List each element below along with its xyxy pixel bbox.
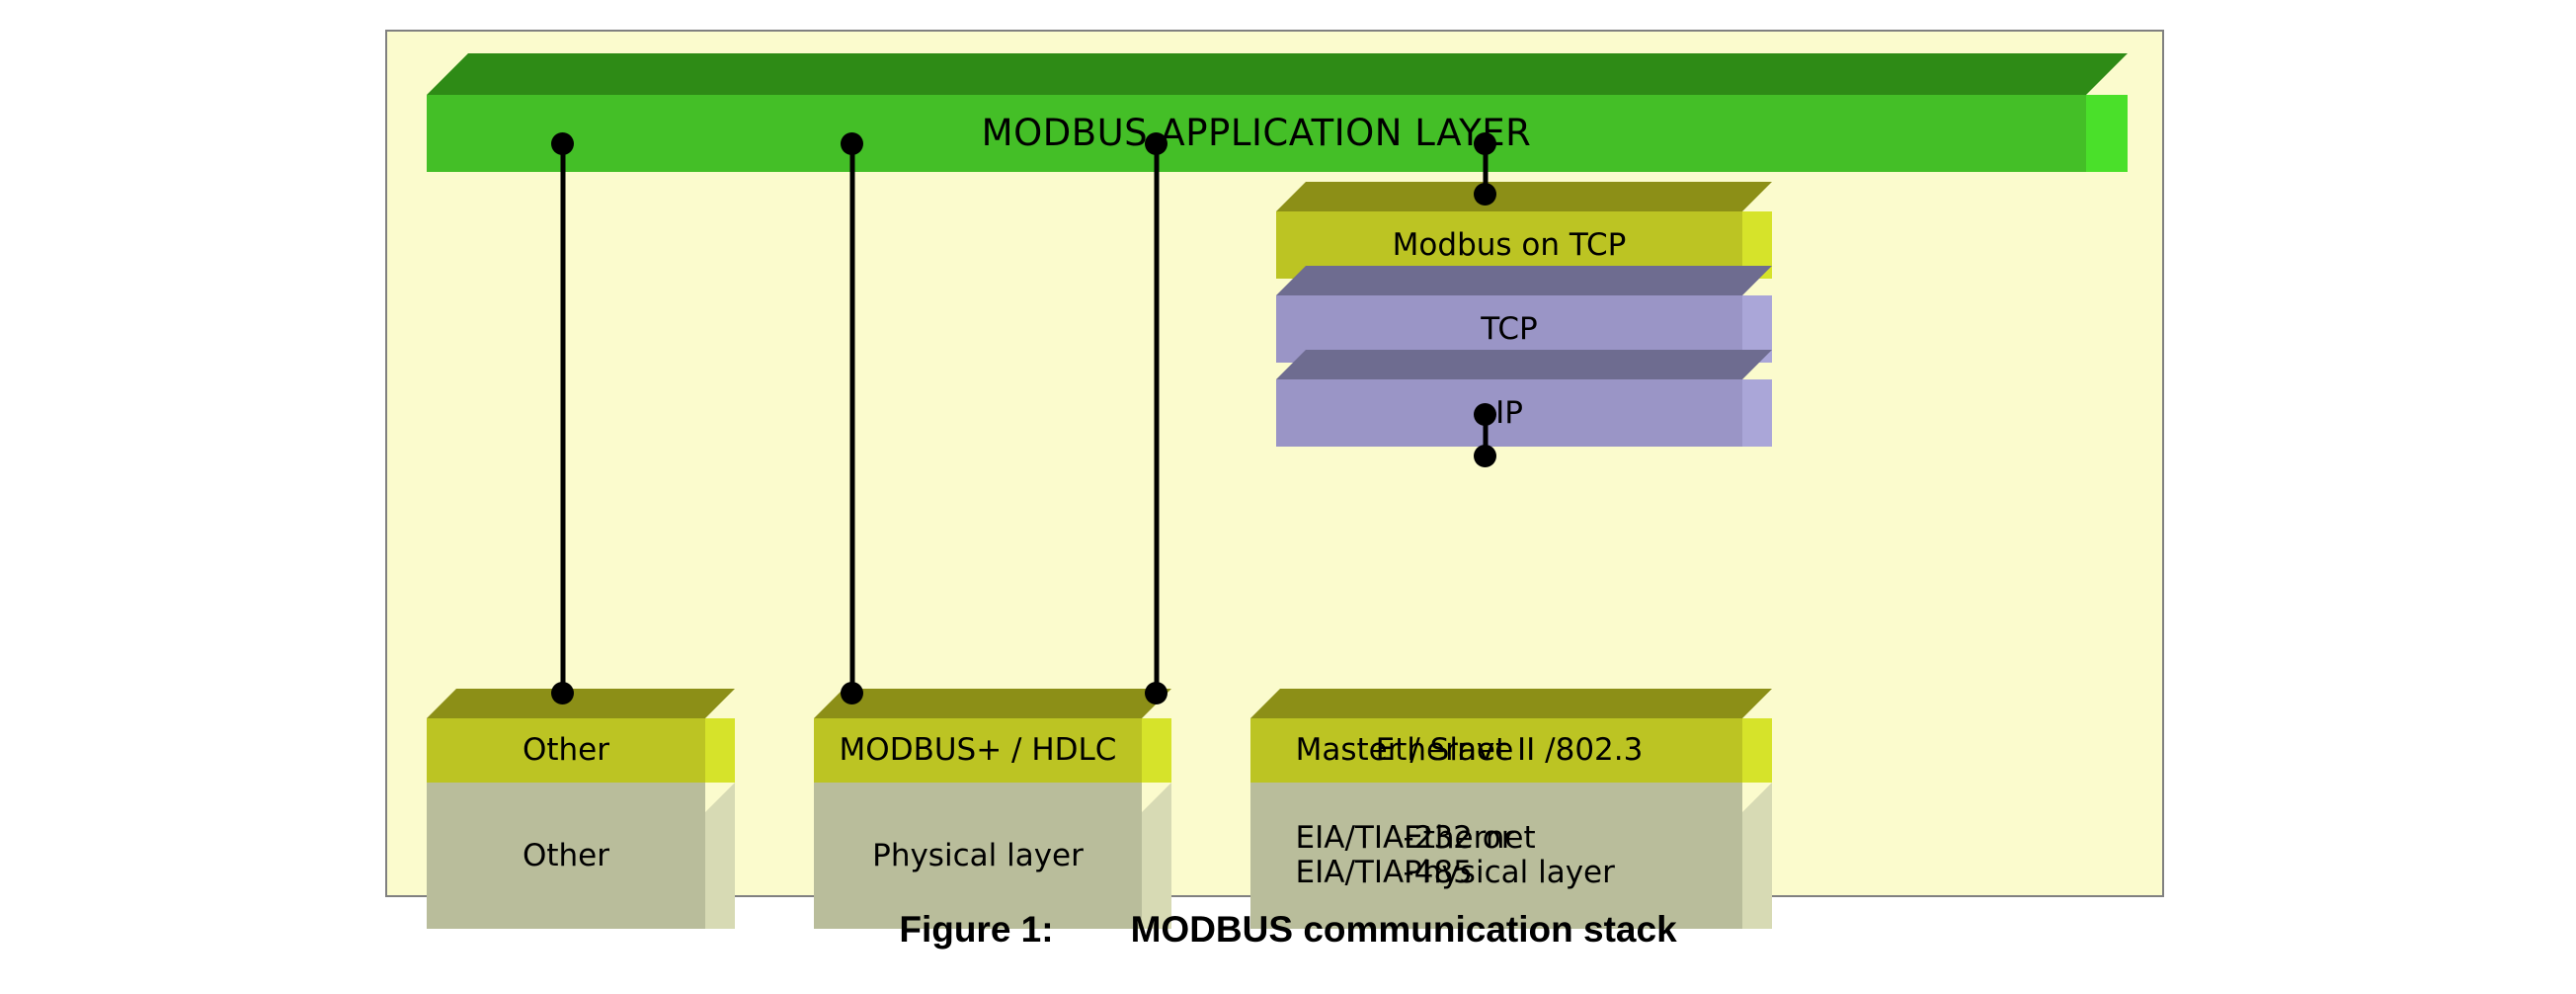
ethernet-stack-upper-side-face [1742, 718, 1772, 783]
ip-side-face [1742, 379, 1772, 447]
modbus-plus-stack-upper-side-face [1142, 718, 1171, 783]
connector-app-layer-to-modbus-plus [841, 143, 863, 694]
modbus-application-layer-block: MODBUS APPLICATION LAYER [427, 53, 2128, 172]
modbus-plus-stack-lower-side-face [1142, 783, 1171, 929]
connector-dot-top [551, 132, 574, 155]
connector-dot-bottom [1474, 445, 1496, 467]
figure-caption: Figure 1:MODBUS communication stack [0, 909, 2576, 951]
connector-app-layer-to-modbus-on-tcp [1474, 143, 1496, 195]
modbus-plus-stack-lower-front-face: Physical layer [814, 783, 1142, 929]
connector-line [1154, 143, 1159, 694]
connector-dot-top [841, 132, 863, 155]
tcp-block: TCP [1276, 266, 1772, 363]
modbus-plus-stack-top-face [814, 689, 1171, 718]
connector-dot-top [1145, 132, 1167, 155]
modbus-plus-stack-upper-label: MODBUS+ / HDLC [840, 733, 1117, 768]
ethernet-stack-lower-label: Ethernet Physical layer [1404, 821, 1615, 889]
app-layer-side-face [2086, 95, 2128, 172]
connector-dot-top [1474, 132, 1496, 155]
ip-block: IP [1276, 350, 1772, 447]
app-layer-top-face [427, 53, 2128, 95]
other-stack-lower-side-face [705, 783, 735, 929]
other-stack-upper-side-face [705, 718, 735, 783]
modbus-plus-stack-lower-label: Physical layer [872, 839, 1084, 873]
connector-line [849, 143, 854, 694]
modbus-on-tcp-label: Modbus on TCP [1393, 228, 1627, 263]
ip-front-face: IP [1276, 379, 1742, 447]
other-stack-upper-front-face: Other [427, 718, 705, 783]
app-layer-front-face: MODBUS APPLICATION LAYER [427, 95, 2086, 172]
ip-label: IP [1495, 396, 1523, 431]
connector-dot-bottom [551, 682, 574, 704]
ethernet-stack-lower-side-face [1742, 783, 1772, 929]
modbus-plus-stack-upper-front-face: MODBUS+ / HDLC [814, 718, 1142, 783]
connector-dot-bottom [1474, 183, 1496, 206]
ip-top-face [1276, 350, 1772, 379]
ethernet-stack-upper-label: Ethernet II /802.3 [1376, 733, 1644, 768]
app-layer-label: MODBUS APPLICATION LAYER [982, 113, 1532, 153]
caption-label: Figure 1: [899, 909, 1053, 950]
figure-container: MODBUS APPLICATION LAYER Modbus on TCP T… [0, 0, 2576, 994]
connector-line [560, 143, 565, 694]
connector-app-layer-to-other [551, 143, 574, 694]
tcp-label: TCP [1481, 312, 1537, 347]
other-stack-lower-front-face: Other [427, 783, 705, 929]
connector-ip-to-ethernet [1474, 414, 1496, 456]
diagram-frame: MODBUS APPLICATION LAYER Modbus on TCP T… [385, 30, 2164, 897]
connector-dot-bottom [841, 682, 863, 704]
modbus-on-tcp-top-face [1276, 182, 1772, 211]
other-stack-upper-label: Other [523, 733, 609, 768]
caption-text: MODBUS communication stack [1131, 909, 1677, 950]
connector-dot-top [1474, 403, 1496, 426]
modbus-on-tcp-block: Modbus on TCP [1276, 182, 1772, 279]
connector-dot-bottom [1145, 682, 1167, 704]
other-stack-top-face [427, 689, 735, 718]
ethernet-stack-top-face [1276, 689, 1772, 718]
connector-app-layer-to-master-slave [1145, 143, 1167, 694]
other-stack-lower-label: Other [523, 839, 609, 873]
tcp-top-face [1276, 266, 1772, 295]
